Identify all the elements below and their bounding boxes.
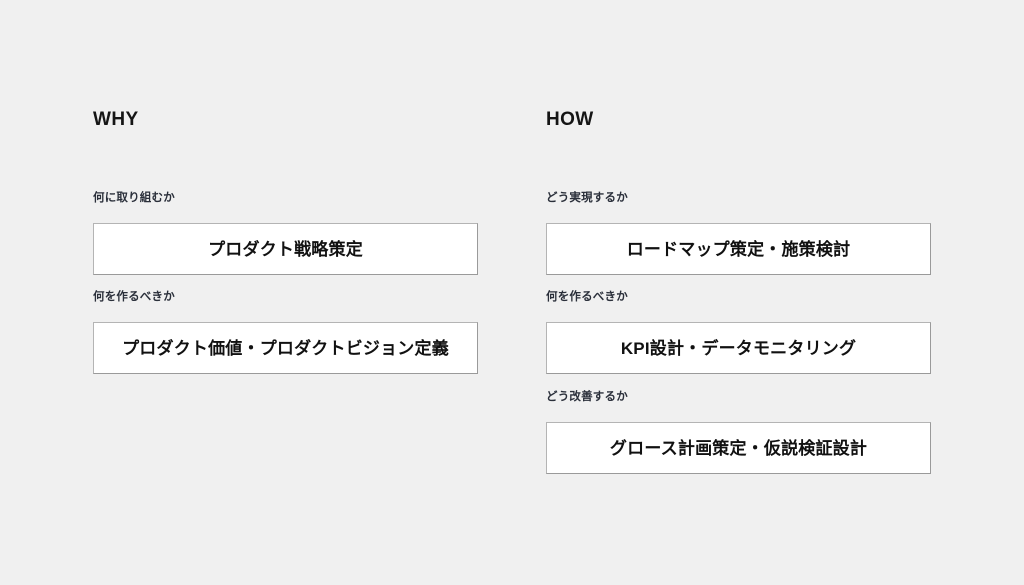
entry-caption-how-3: どう改善するか: [546, 392, 628, 406]
entry-box-how-1[interactable]: ロードマップ策定・施策検討: [546, 223, 931, 275]
entry-caption-why-2: 何を作るべきか: [93, 292, 175, 306]
entry-box-label-why-2: プロダクト価値・プロダクトビジョン定義: [122, 340, 449, 357]
entry-box-why-2[interactable]: プロダクト価値・プロダクトビジョン定義: [93, 322, 478, 374]
entry-caption-how-1: どう実現するか: [546, 193, 628, 207]
entry-caption-why-1: 何に取り組むか: [93, 193, 175, 207]
column-why: WHY 何に取り組むか プロダクト戦略策定 何を作るべきか プロダクト価値・プロ…: [93, 110, 480, 134]
entry-box-why-1[interactable]: プロダクト戦略策定: [93, 223, 478, 275]
entry-box-label-why-1: プロダクト戦略策定: [208, 241, 363, 258]
slide-canvas: WHY 何に取り組むか プロダクト戦略策定 何を作るべきか プロダクト価値・プロ…: [0, 0, 1024, 585]
entry-box-label-how-1: ロードマップ策定・施策検討: [627, 241, 851, 258]
column-heading-why: WHY: [93, 110, 480, 134]
entry-box-label-how-2: KPI設計・データモニタリング: [621, 340, 856, 357]
column-how: HOW どう実現するか ロードマップ策定・施策検討 何を作るべきか KPI設計・…: [546, 110, 933, 134]
entry-box-how-3[interactable]: グロース計画策定・仮説検証設計: [546, 422, 931, 474]
entry-caption-how-2: 何を作るべきか: [546, 292, 628, 306]
column-heading-how: HOW: [546, 110, 933, 134]
entry-box-label-how-3: グロース計画策定・仮説検証設計: [610, 440, 867, 457]
entry-box-how-2[interactable]: KPI設計・データモニタリング: [546, 322, 931, 374]
